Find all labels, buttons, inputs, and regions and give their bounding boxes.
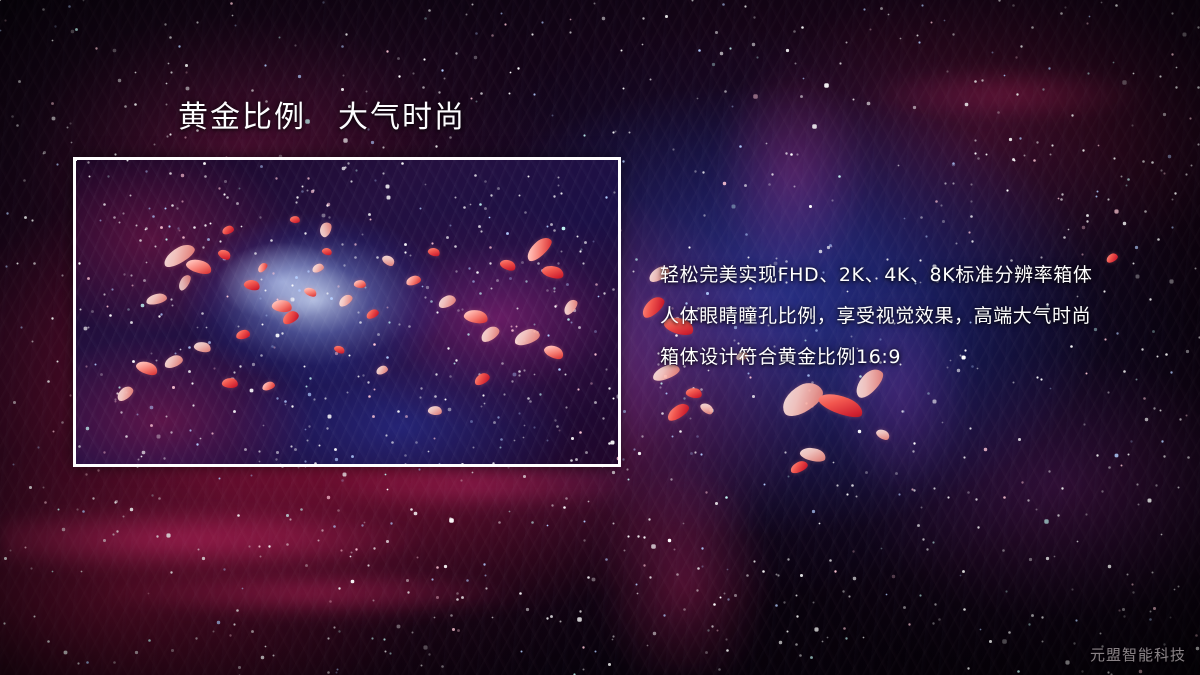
framed-image-wisps [76, 160, 618, 464]
flower-petal [816, 388, 865, 422]
body-copy-line-1: 轻松完美实现FHD、2K、4K、8K标准分辨率箱体 [660, 255, 1140, 296]
body-copy-line-3: 箱体设计符合黄金比例16:9 [660, 337, 1140, 378]
flower-petal [685, 386, 703, 400]
body-copy-line-2: 人体眼睛瞳孔比例，享受视觉效果，高端大气时尚 [660, 296, 1140, 337]
flower-petal [699, 401, 716, 417]
framed-starfield-near [76, 160, 77, 161]
flower-petal [776, 377, 827, 421]
starfield-near [0, 0, 1, 1]
watermark-label: 元盟智能科技 [1090, 644, 1186, 665]
flower-petal [789, 459, 809, 475]
flower-petal [665, 401, 692, 423]
body-copy-block: 轻松完美实现FHD、2K、4K、8K标准分辨率箱体 人体眼睛瞳孔比例，享受视觉效… [660, 255, 1140, 378]
presentation-slide: 黄金比例 大气时尚 轻松完美实现FHD、2K、4K、8K标准分辨率箱体 人体眼睛… [0, 0, 1200, 675]
flower-petal [799, 445, 828, 465]
slide-title: 黄金比例 大气时尚 [178, 100, 466, 136]
framed-image-panel [73, 157, 621, 467]
flower-petal [875, 427, 892, 442]
